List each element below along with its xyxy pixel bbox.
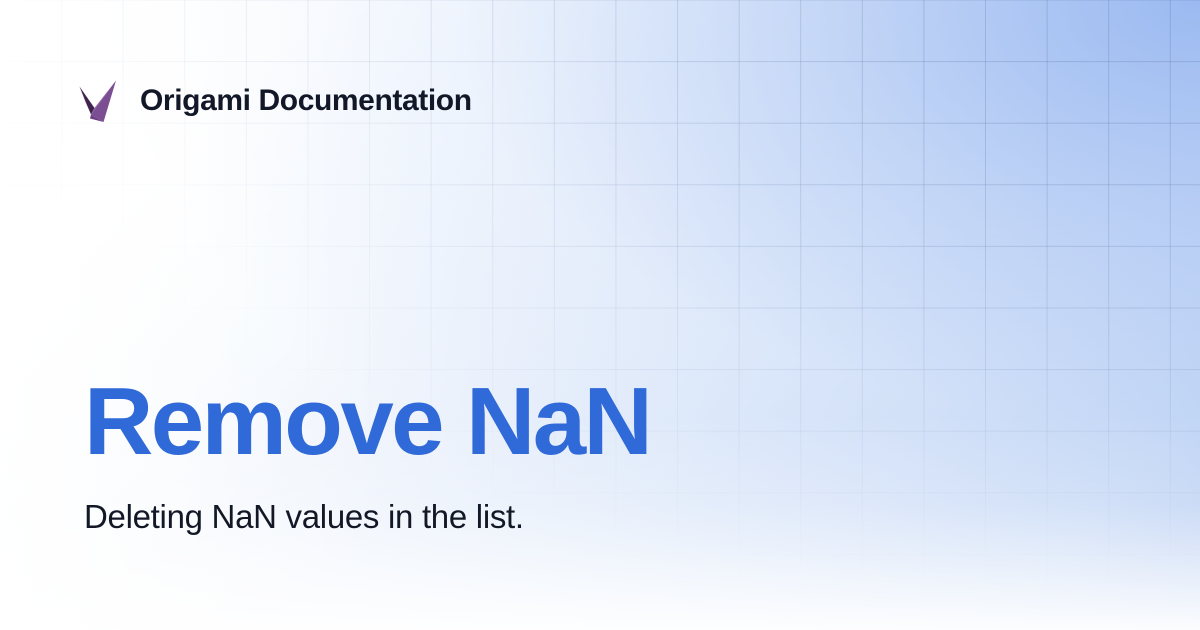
brand-name-label: Origami Documentation <box>140 86 472 116</box>
og-image-card: Origami Documentation Remove NaN Deletin… <box>0 0 1200 630</box>
page-subtitle: Deleting NaN values in the list. <box>84 496 1120 539</box>
brand-header[interactable]: Origami Documentation <box>78 78 472 124</box>
card-content: Origami Documentation Remove NaN Deletin… <box>0 0 1200 630</box>
origami-checkmark-logo-icon <box>78 78 124 124</box>
page-title: Remove NaN <box>84 372 1120 472</box>
hero-section: Remove NaN Deleting NaN values in the li… <box>84 372 1120 539</box>
